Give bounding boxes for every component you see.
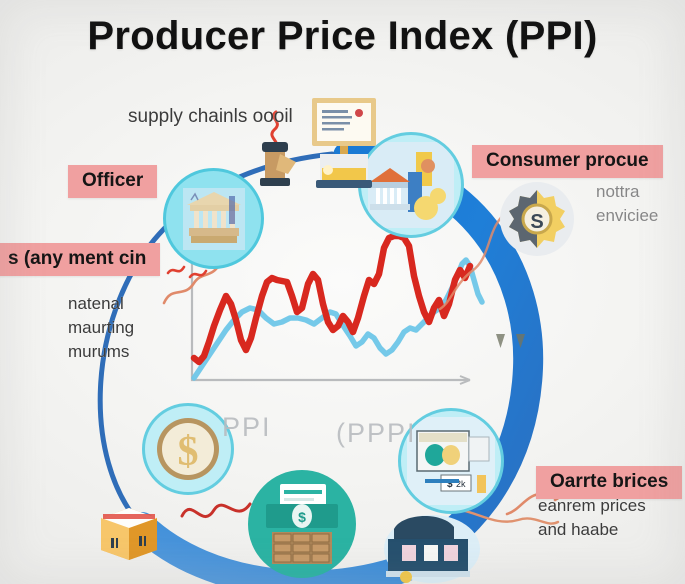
left-sub-text: natenal maurting murums bbox=[68, 292, 134, 364]
dollar-coin-icon: $ bbox=[142, 403, 234, 495]
government-label: s (any ment cin bbox=[0, 243, 160, 276]
consumer-price-label: Consumer procue bbox=[472, 145, 663, 178]
officer-label: Officer bbox=[68, 165, 157, 198]
supply-chains-note: supply chainls oooil bbox=[128, 104, 293, 131]
page-title: Producer Price Index (PPI) bbox=[0, 14, 685, 59]
bottom-right-sub-text: eanrem prices and haabe bbox=[538, 494, 646, 542]
right-sub-text: nottra enviciee bbox=[596, 180, 658, 228]
package-box-icon bbox=[95, 500, 165, 568]
svg-text:S: S bbox=[530, 211, 543, 233]
ppi-watermark-left: PPI bbox=[222, 412, 272, 443]
gear-dollar-icon: S bbox=[500, 182, 574, 256]
svg-text:$: $ bbox=[298, 509, 306, 525]
gavel-icon bbox=[252, 140, 304, 202]
bank-building-icon bbox=[163, 168, 264, 269]
framed-certificate-icon bbox=[302, 96, 386, 194]
banknote-stack-icon: $ bbox=[248, 470, 356, 578]
ppi-watermark-right: (PPPI bbox=[336, 418, 417, 449]
svg-text:$: $ bbox=[178, 429, 199, 475]
factory-building-icon bbox=[380, 505, 490, 583]
infographic-canvas: $ $ bbox=[0, 0, 685, 584]
